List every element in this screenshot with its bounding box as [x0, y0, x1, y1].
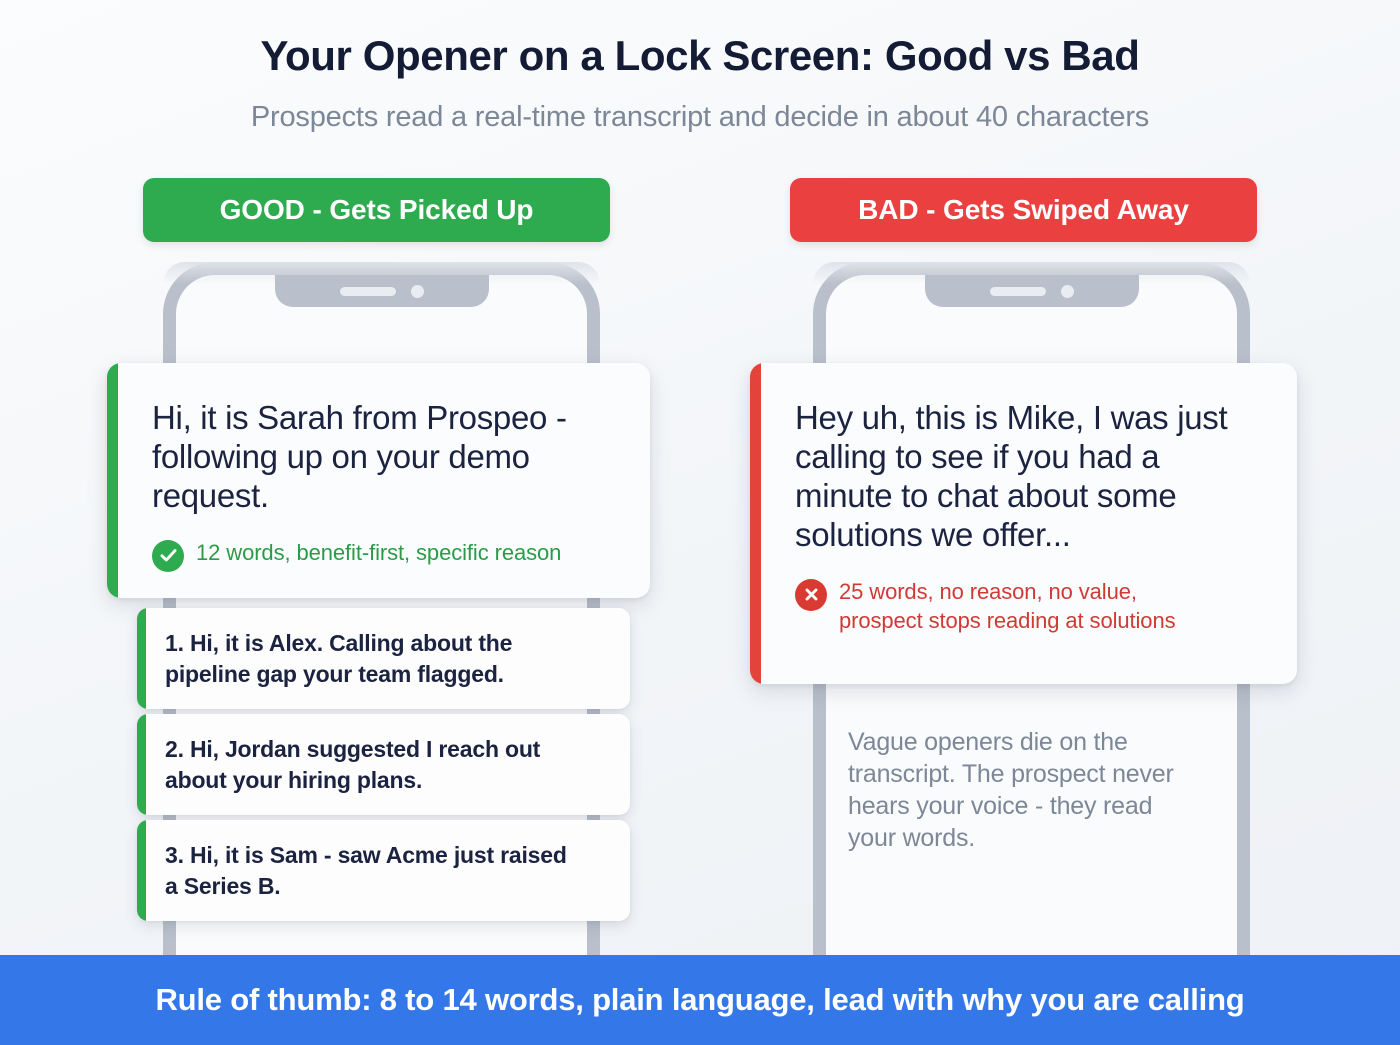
accent-bar-green [137, 820, 146, 921]
transcript-card-bad: Hey uh, this is Mike, I was just calling… [750, 363, 1297, 684]
x-circle-icon [795, 579, 827, 611]
accent-bar-green [107, 363, 118, 598]
verdict-text-bad: 25 words, no reason, no value, prospect … [839, 577, 1175, 636]
speaker-grille-icon [340, 287, 396, 296]
accent-bar-green [137, 608, 146, 709]
transcript-card-bad-inner: Hey uh, this is Mike, I was just calling… [750, 363, 1297, 661]
example-text-2: 2. Hi, Jordan suggested I reach out abou… [137, 714, 630, 815]
example-card-2: 2. Hi, Jordan suggested I reach out abou… [137, 714, 630, 815]
verdict-text-good: 12 words, benefit-first, specific reason [196, 538, 561, 567]
check-circle-icon [152, 540, 184, 572]
speaker-grille-icon [990, 287, 1046, 296]
transcript-card-good: Hi, it is Sarah from Prospeo - following… [107, 363, 650, 598]
badge-bad-label: BAD - Gets Swiped Away [858, 194, 1189, 226]
footer-text: Rule of thumb: 8 to 14 words, plain lang… [155, 982, 1244, 1018]
badge-bad: BAD - Gets Swiped Away [790, 178, 1257, 242]
front-camera-icon [1061, 285, 1074, 298]
verdict-row-good: 12 words, benefit-first, specific reason [152, 538, 620, 572]
example-text-1: 1. Hi, it is Alex. Calling about the pip… [137, 608, 630, 709]
phone-notch-good [275, 275, 489, 307]
transcript-text-good: Hi, it is Sarah from Prospeo - following… [152, 399, 620, 516]
example-card-3: 3. Hi, it is Sam - saw Acme just raised … [137, 820, 630, 921]
infographic-root: Your Opener on a Lock Screen: Good vs Ba… [0, 0, 1400, 1045]
front-camera-icon [411, 285, 424, 298]
transcript-card-good-inner: Hi, it is Sarah from Prospeo - following… [107, 363, 650, 598]
note-text-bad: Vague openers die on the transcript. The… [848, 726, 1228, 854]
accent-bar-green [137, 714, 146, 815]
footer-banner: Rule of thumb: 8 to 14 words, plain lang… [0, 955, 1400, 1045]
accent-bar-red [750, 363, 761, 684]
badge-good-label: GOOD - Gets Picked Up [220, 194, 534, 226]
badge-good: GOOD - Gets Picked Up [143, 178, 610, 242]
column-bad: BAD - Gets Swiped Away Hey uh, this is M… [700, 0, 1400, 1045]
phone-notch-bad [925, 275, 1139, 307]
verdict-row-bad: 25 words, no reason, no value, prospect … [795, 577, 1267, 636]
column-good: GOOD - Gets Picked Up Hi, it is Sarah fr… [0, 0, 700, 1045]
transcript-text-bad: Hey uh, this is Mike, I was just calling… [795, 399, 1267, 555]
example-card-1: 1. Hi, it is Alex. Calling about the pip… [137, 608, 630, 709]
example-text-3: 3. Hi, it is Sam - saw Acme just raised … [137, 820, 630, 921]
